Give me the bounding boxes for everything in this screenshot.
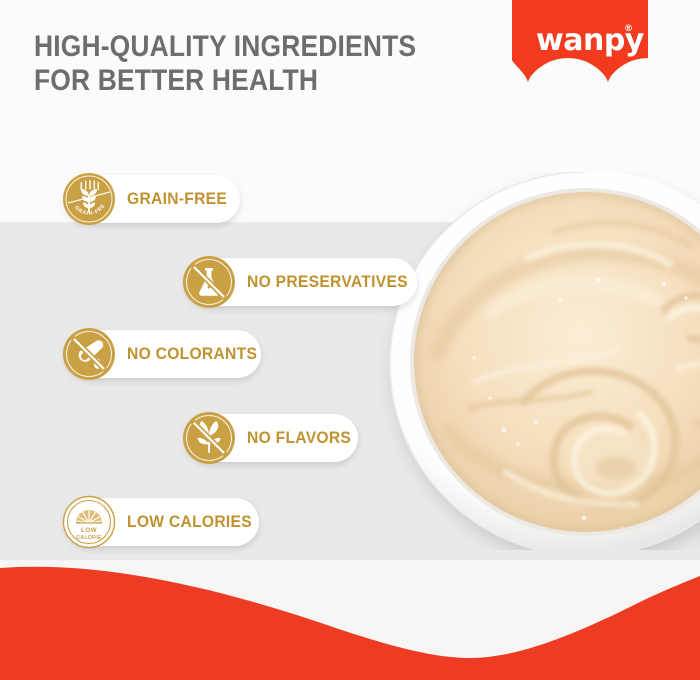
badge-low-calories[interactable]: LOW CALORIE LOW CALORIES (65, 498, 259, 546)
infographic-canvas: wanpy ® HIGH-QUALITY INGREDIENTS FOR BET… (0, 0, 700, 680)
svg-text:LOW: LOW (81, 527, 97, 534)
badge-label: LOW CALORIES (127, 512, 252, 532)
badge-label: NO COLORANTS (127, 344, 257, 364)
badge-label: NO PRESERVATIVES (247, 272, 408, 292)
badge-grain-free[interactable]: GRAIN-FREE GRAIN-FREE (65, 175, 240, 223)
badge-no-flavors[interactable]: NO FLAVORS (185, 414, 358, 462)
leaf-no-flavors-icon (182, 411, 236, 465)
page-title: HIGH-QUALITY INGREDIENTS FOR BETTER HEAL… (34, 30, 439, 98)
product-photo-bowl (378, 172, 700, 550)
gauge-low-calories-icon: LOW CALORIE (62, 495, 116, 549)
registered-trademark-icon: ® (624, 24, 633, 34)
red-wave-footer (0, 540, 700, 680)
grain-free-seal-icon: GRAIN-FREE (62, 172, 116, 226)
svg-text:CALORIE: CALORIE (76, 535, 102, 541)
flask-no-preservatives-icon (182, 255, 236, 309)
badge-no-colorants[interactable]: NO COLORANTS (65, 330, 261, 378)
brush-no-colorants-icon (62, 327, 116, 381)
badge-no-preservatives[interactable]: NO PRESERVATIVES (185, 258, 417, 306)
badge-label: GRAIN-FREE (127, 189, 227, 209)
badge-label: NO FLAVORS (247, 428, 351, 448)
